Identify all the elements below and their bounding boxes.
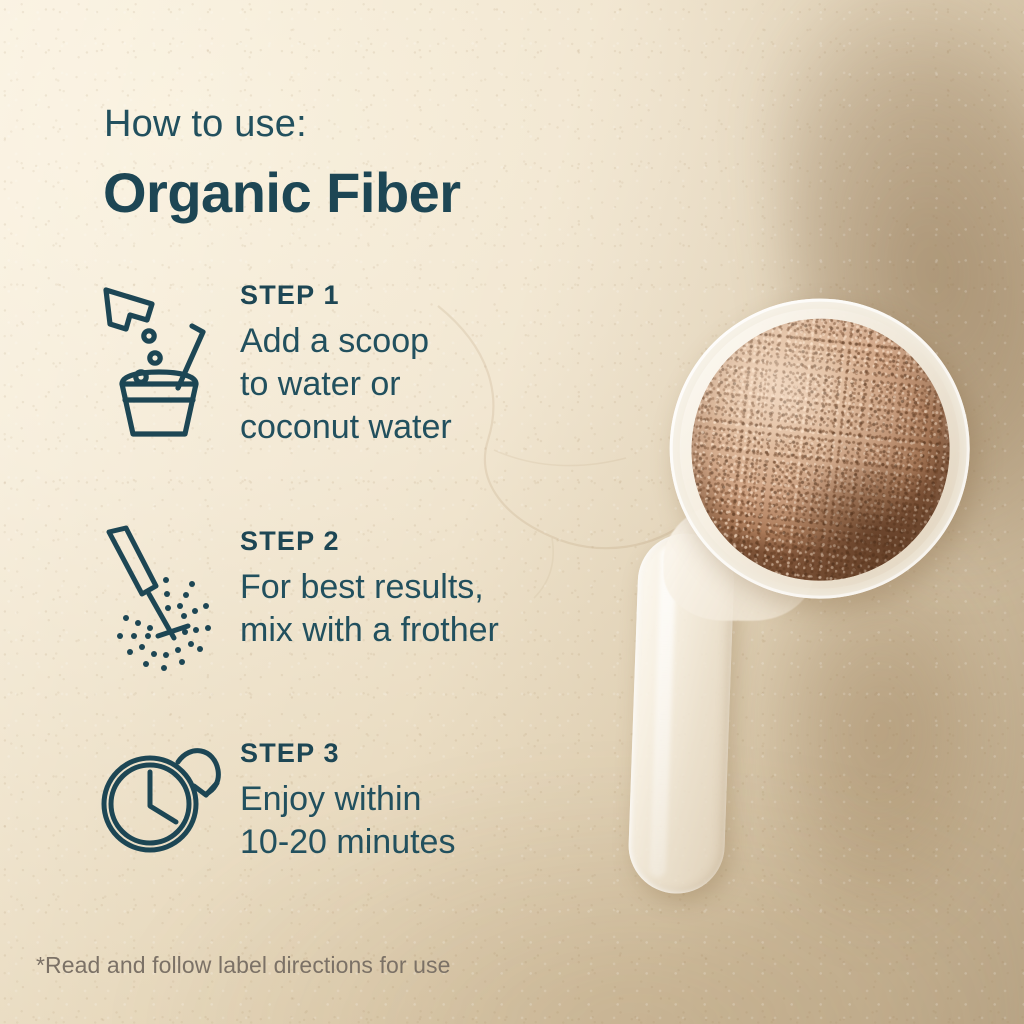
kicker-text: How to use: xyxy=(104,103,307,146)
clock-arrow-icon xyxy=(100,736,240,860)
milk-frother-icon xyxy=(100,524,240,674)
step-1-body: STEP 1 Add a scoop to water or coconut w… xyxy=(240,278,452,448)
step-item-3: STEP 3 Enjoy within 10-20 minutes xyxy=(100,736,455,864)
glass-with-scoop-icon xyxy=(100,278,240,440)
step-2-body: STEP 2 For best results, mix with a frot… xyxy=(240,524,499,652)
measuring-scoop-photo xyxy=(564,278,1009,954)
step-3-body: STEP 3 Enjoy within 10-20 minutes xyxy=(240,736,455,864)
disclaimer-text: *Read and follow label directions for us… xyxy=(36,952,451,979)
step-3-label: STEP 3 xyxy=(240,738,455,769)
how-to-use-poster: How to use: Organic Fiber STEP xyxy=(0,0,1024,1024)
step-2-label: STEP 2 xyxy=(240,526,499,557)
page-title: Organic Fiber xyxy=(103,160,461,225)
step-1-label: STEP 1 xyxy=(240,280,452,311)
step-2-text: For best results, mix with a frother xyxy=(240,566,499,652)
step-item-2: STEP 2 For best results, mix with a frot… xyxy=(100,524,499,674)
step-item-1: STEP 1 Add a scoop to water or coconut w… xyxy=(100,278,452,448)
step-3-text: Enjoy within 10-20 minutes xyxy=(240,778,455,864)
step-1-text: Add a scoop to water or coconut water xyxy=(240,320,452,448)
